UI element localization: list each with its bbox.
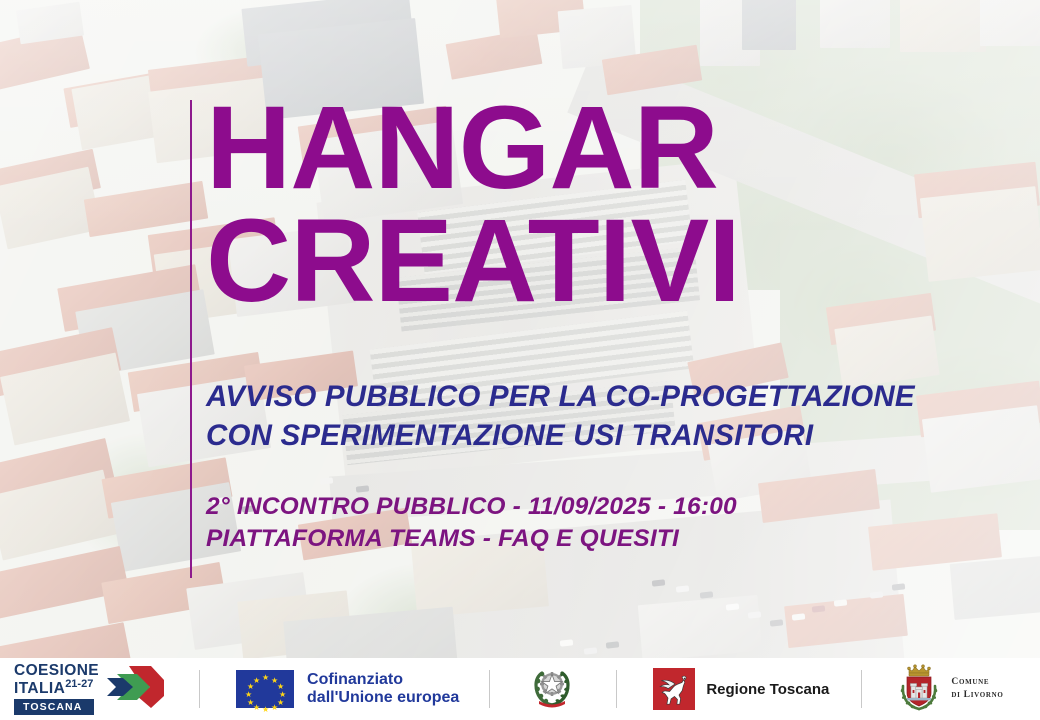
coesione-years: 21-27	[65, 678, 93, 690]
coesione-region-tag: TOSCANA	[14, 699, 94, 716]
eu-flag-icon: ★ ★ ★ ★ ★ ★ ★ ★ ★ ★ ★ ★	[236, 670, 294, 708]
poster-text-block: HANGAR CREATIVI AVVISO PUBBLICO PER LA C…	[206, 92, 1006, 556]
logo-cofinanziato-unione-europea: ★ ★ ★ ★ ★ ★ ★ ★ ★ ★ ★ ★ Cofinanziato dal…	[236, 658, 459, 720]
footer-divider	[861, 670, 862, 708]
footer-divider	[616, 670, 617, 708]
regione-toscana-label: Regione Toscana	[706, 681, 829, 698]
footer-divider	[199, 670, 200, 708]
poster-canvas: HANGAR CREATIVI AVVISO PUBBLICO PER LA C…	[0, 0, 1040, 720]
livorno-coat-of-arms-icon	[896, 662, 942, 717]
eu-funding-text: Cofinanziato dall'Unione europea	[307, 671, 459, 707]
coesione-line2-group: ITALIA21-27	[14, 679, 99, 697]
footer-logo-bar: COESIONE ITALIA21-27 TOSCANA ★ ★ ★ ★ ★	[0, 658, 1040, 720]
coesione-text-group: COESIONE ITALIA21-27 TOSCANA	[14, 663, 99, 715]
logo-regione-toscana: Regione Toscana	[653, 658, 829, 720]
logo-comune-di-livorno: Comune di Livorno	[896, 658, 1003, 720]
coesione-chevron-icon	[107, 664, 165, 715]
comune-di-livorno-label: Comune di Livorno	[951, 676, 1003, 703]
italian-republic-emblem-icon	[528, 663, 576, 716]
logo-repubblica-italiana	[528, 658, 576, 720]
pegasus-icon	[653, 668, 695, 710]
vertical-accent-rule	[190, 100, 192, 578]
coesione-line2: ITALIA	[14, 680, 65, 697]
footer-divider	[489, 670, 490, 708]
coesione-line1: COESIONE	[14, 663, 99, 679]
logo-coesione-italia-toscana: COESIONE ITALIA21-27 TOSCANA	[14, 658, 165, 720]
page-title: HANGAR CREATIVI	[206, 92, 1006, 319]
poster-subtitle: AVVISO PUBBLICO PER LA CO-PROGETTAZIONE …	[206, 377, 1006, 455]
poster-event-details: 2° INCONTRO PUBBLICO - 11/09/2025 - 16:0…	[206, 491, 1006, 556]
